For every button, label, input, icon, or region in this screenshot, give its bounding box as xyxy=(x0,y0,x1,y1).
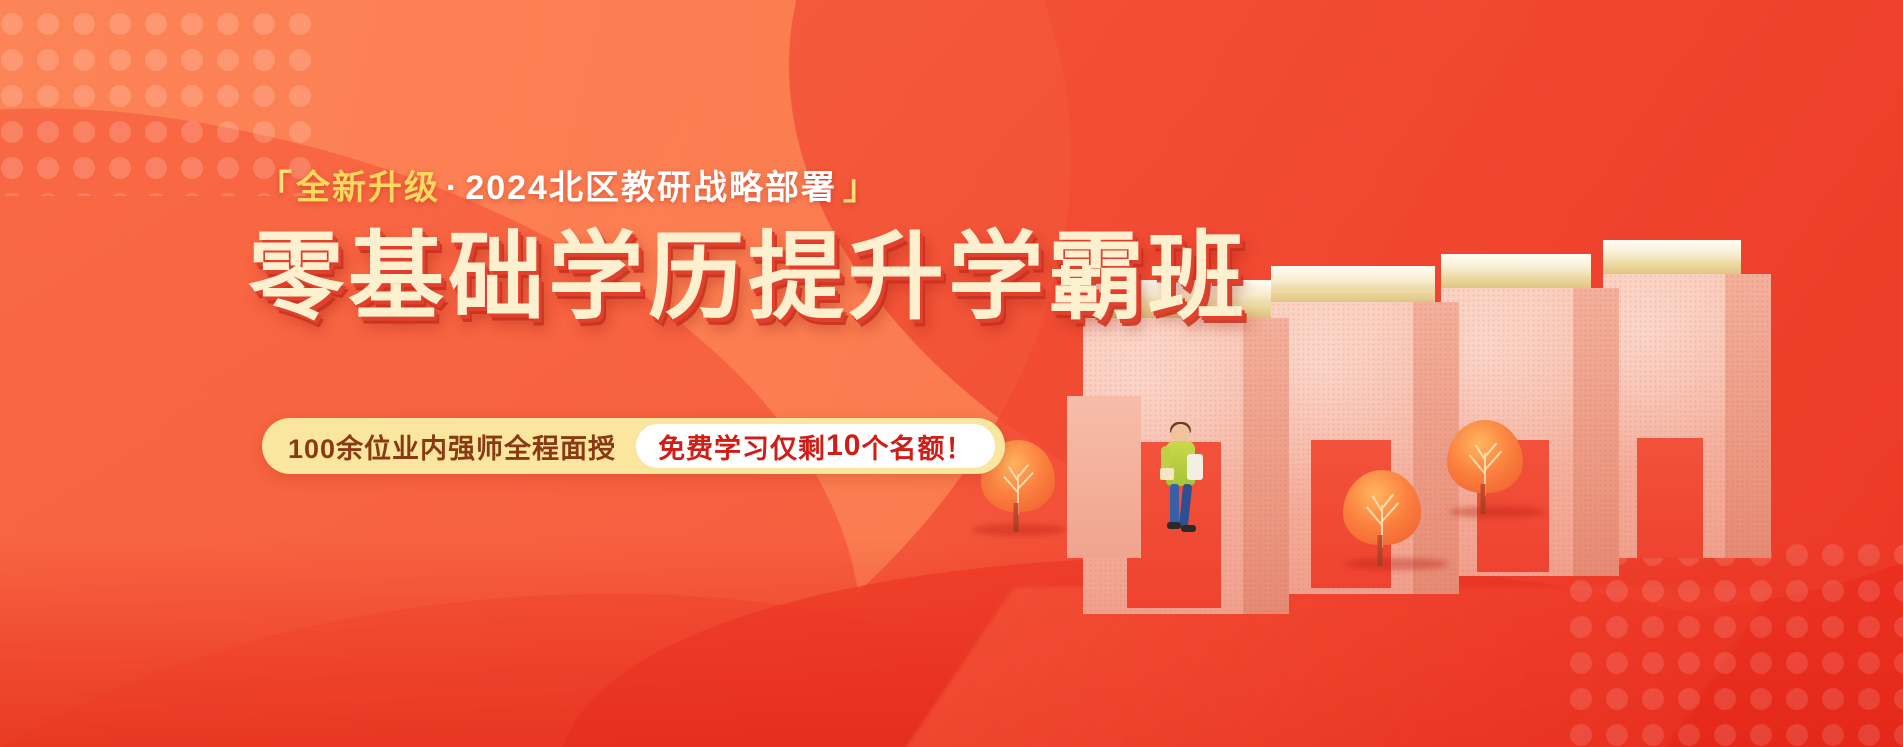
subtitle-bracket-left: 「 xyxy=(258,169,294,207)
figure-shoe-right xyxy=(1181,525,1196,532)
pill-number: 10 xyxy=(826,429,861,463)
figure-bag xyxy=(1187,454,1203,480)
banner-text-block: 「全新升级·2024北区教研战略部署」 零基础学历提升学霸班 100余位业内强师… xyxy=(0,0,1080,747)
subtitle-highlight: 全新升级 xyxy=(296,169,440,207)
banner-subtitle: 「全新升级·2024北区教研战略部署」 xyxy=(258,160,879,209)
book-arch-4 xyxy=(1603,258,1741,558)
subtitle-separator: · xyxy=(440,169,465,207)
book-archway xyxy=(1637,438,1703,558)
pill-prefix: 免费学习仅剩 xyxy=(658,427,826,466)
stylized-tree-right xyxy=(1447,420,1523,514)
figure-leg-right xyxy=(1179,484,1193,529)
figure-book xyxy=(1160,468,1174,480)
pill-suffix: 个名额！ xyxy=(861,427,973,466)
book-side xyxy=(1573,288,1619,576)
tree-trunk xyxy=(1377,535,1382,566)
stylized-tree-mid xyxy=(1343,470,1421,566)
tree-trunk xyxy=(1480,484,1485,514)
promo-banner: 「全新升级·2024北区教研战略部署」 零基础学历提升学霸班 100余位业内强师… xyxy=(0,0,1903,747)
figure-leg-left xyxy=(1170,484,1179,524)
figure-shoe-left xyxy=(1167,522,1181,529)
illustration-group xyxy=(1043,0,1903,747)
student-figure xyxy=(1159,424,1203,536)
banner-headline: 零基础学历提升学霸班 xyxy=(248,228,1248,329)
book-page-top xyxy=(1271,266,1435,292)
subtitle-rest: 2024北区教研战略部署 xyxy=(465,169,837,207)
book-side xyxy=(1243,318,1289,614)
badge-urgency-pill: 免费学习仅剩10个名额！ xyxy=(636,424,995,468)
subtitle-bracket-right: 」 xyxy=(843,169,879,207)
badge-left-text: 100余位业内强师全程面授 xyxy=(288,427,636,466)
book-side xyxy=(1725,274,1771,558)
banner-badge-row: 100余位业内强师全程面授 免费学习仅剩10个名额！ xyxy=(262,418,1005,474)
